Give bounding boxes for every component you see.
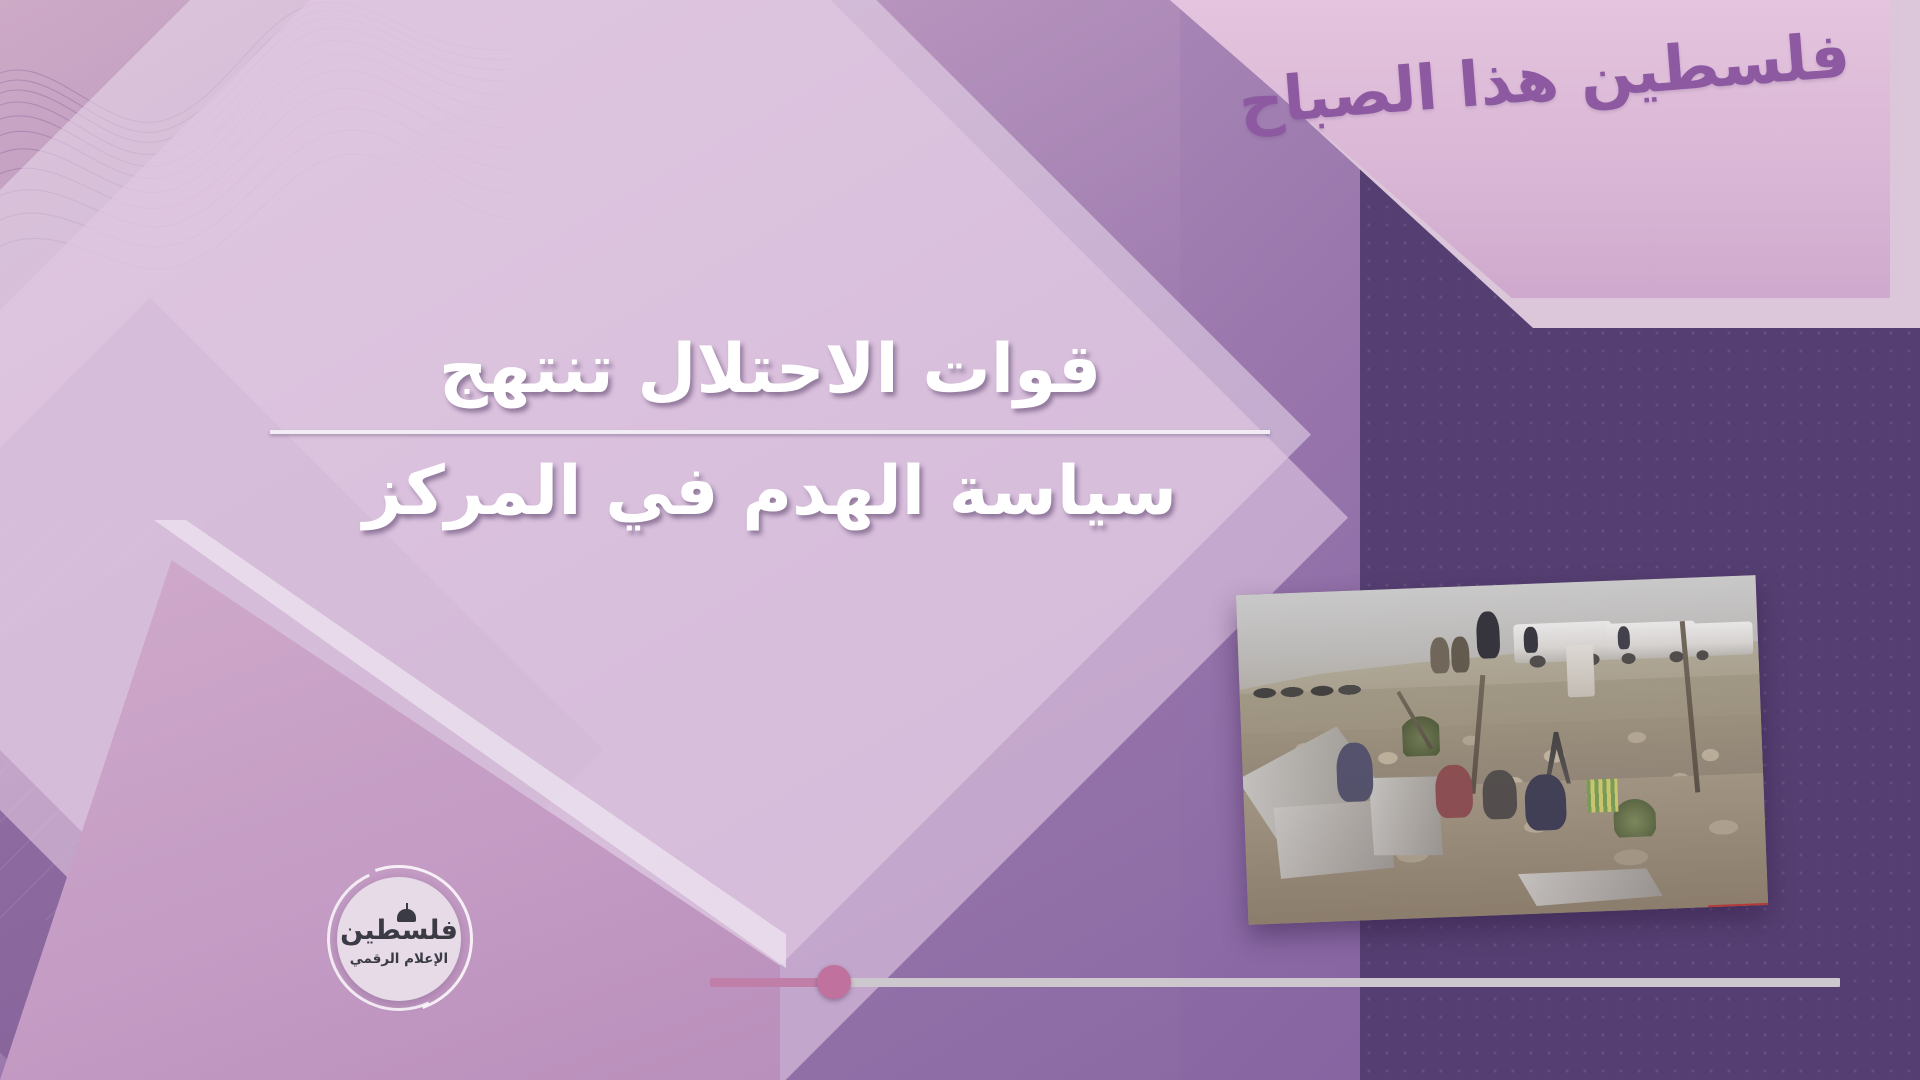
- video-progress-bar[interactable]: [710, 974, 1840, 990]
- headline-divider: [270, 430, 1270, 434]
- photo-tyres: [1250, 676, 1376, 707]
- photo-person: [1335, 742, 1374, 803]
- photo-crate: [1586, 779, 1618, 813]
- channel-logo: فلسطين الإعلام الرقمي: [325, 865, 473, 1013]
- photo-person: [1523, 626, 1538, 653]
- progress-track[interactable]: [710, 978, 1840, 987]
- logo-subtitle: الإعلام الرقمي: [325, 951, 473, 967]
- photo-shrub: [1613, 797, 1656, 838]
- photo-person: [1435, 764, 1473, 818]
- photo-truck-right: [1684, 621, 1753, 657]
- logo-name: فلسطين: [325, 915, 473, 946]
- photo-person: [1524, 774, 1568, 832]
- photo-water-tank: [1566, 644, 1595, 698]
- photo-person: [1482, 769, 1518, 820]
- photo-person: [1617, 626, 1630, 650]
- headline-line-2: سياسة الهدم في المركز: [270, 452, 1270, 532]
- news-photo-content: [1236, 575, 1768, 925]
- progress-fill: [710, 978, 834, 987]
- news-photo: [1236, 575, 1768, 925]
- background-decoration: [0, 0, 1920, 1080]
- photo-person: [1451, 636, 1470, 673]
- photo-person: [1476, 611, 1501, 658]
- headline-line-1: قوات الاحتلال تنتهج: [270, 330, 1270, 410]
- headline-block: قوات الاحتلال تنتهج سياسة الهدم في المرك…: [270, 330, 1270, 532]
- video-frame: فلسطين هذا الصباح قوات الاحتلال تنتهج سي…: [0, 0, 1920, 1080]
